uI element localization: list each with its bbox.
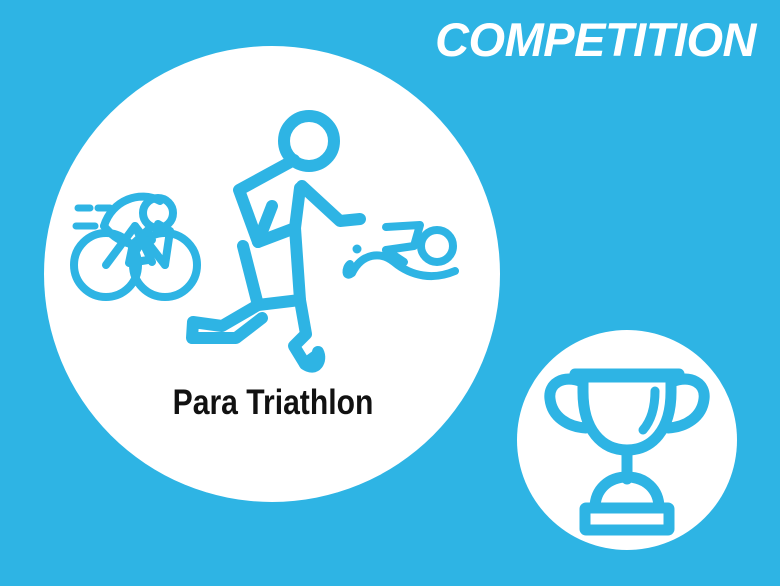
trophy-badge: [517, 330, 737, 550]
competition-poster: COMPETITION: [0, 0, 780, 586]
sport-label: Para Triathlon: [77, 385, 469, 420]
poster-artwork: [0, 0, 780, 586]
